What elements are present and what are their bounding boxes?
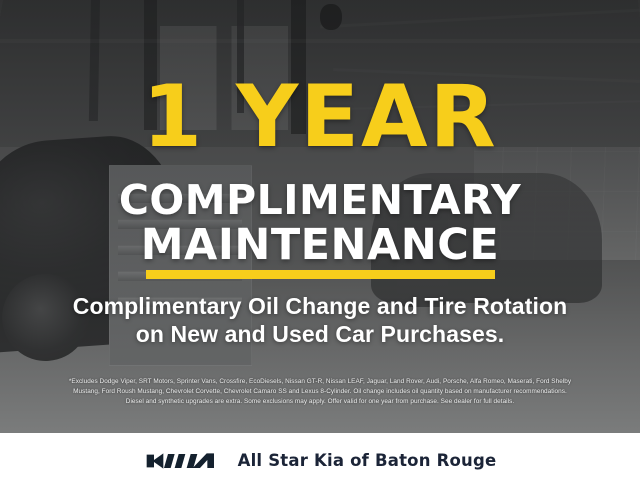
headline-maintenance: MAINTENANCE <box>0 224 640 267</box>
offer-description-line-2: on New and Used Car Purchases. <box>0 322 640 347</box>
disclaimer-line-3: Diesel and synthetic upgrades are extra.… <box>14 397 626 407</box>
disclaimer-line-2: Mustang, Ford Roush Mustang, Chevrolet C… <box>14 387 626 397</box>
kia-logo <box>144 450 216 472</box>
dealer-footer: All Star Kia of Baton Rouge <box>0 433 640 488</box>
headline-complimentary: COMPLIMENTARY <box>0 180 640 221</box>
promotional-banner: 1 YEAR COMPLIMENTARY MAINTENANCE Complim… <box>0 0 640 433</box>
disclaimer-text: *Excludes Dodge Viper, SRT Motors, Sprin… <box>14 377 626 407</box>
headline-year: 1 YEAR <box>0 74 640 160</box>
offer-description-line-1: Complimentary Oil Change and Tire Rotati… <box>0 294 640 319</box>
yellow-divider-bar <box>146 270 495 279</box>
banner-content: 1 YEAR COMPLIMENTARY MAINTENANCE Complim… <box>0 0 640 433</box>
dealer-name: All Star Kia of Baton Rouge <box>238 451 497 470</box>
disclaimer-line-1: *Excludes Dodge Viper, SRT Motors, Sprin… <box>14 377 626 387</box>
